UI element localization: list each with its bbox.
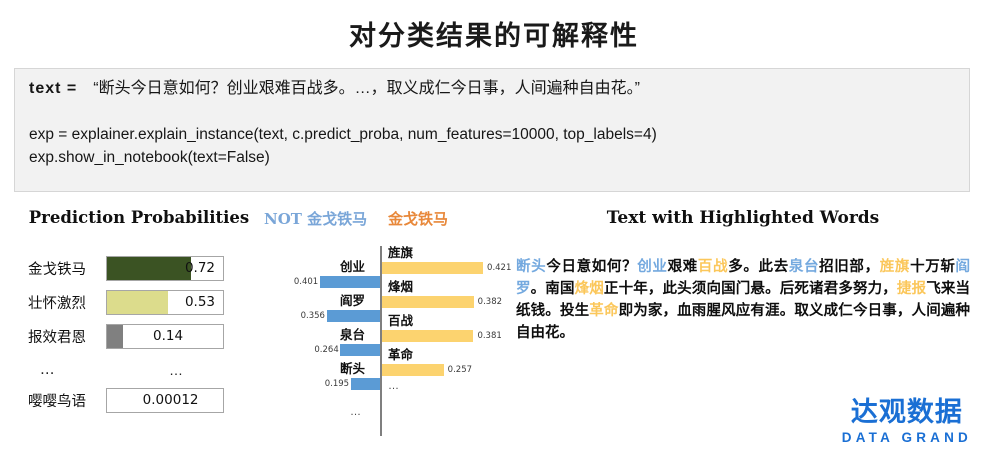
prediction-row: 金戈铁马0.72	[28, 255, 264, 281]
highlighted-word-negative: 创业	[637, 259, 667, 275]
prediction-bar-fill	[107, 257, 191, 280]
lime-word-label: 创业	[340, 260, 365, 274]
prediction-bar-fill	[107, 325, 123, 348]
prediction-rows: 金戈铁马0.72壮怀激烈0.53报效君恩0.14……嘤嘤鸟语0.00012	[14, 255, 264, 413]
lime-bar-value: 0.264	[314, 344, 338, 356]
prediction-ellipsis-value: …	[118, 362, 236, 378]
prediction-bar-value: 0.53	[185, 294, 215, 310]
lime-word-label: 阎罗	[340, 294, 365, 308]
prediction-row: 嘤嘤鸟语0.00012	[28, 387, 264, 413]
code-block: text =“断头今日意如何？创业艰难百战多。…，取义成仁今日事，人间遍种自由花…	[14, 68, 970, 192]
highlighted-word-positive: 百战	[698, 259, 728, 275]
prediction-bar: 0.53	[106, 290, 224, 315]
code-line-text-assignment: text =“断头今日意如何？创业艰难百战多。…，取义成仁今日事，人间遍种自由花…	[29, 81, 955, 97]
highlighted-word-negative: 泉台	[789, 259, 819, 275]
lime-word-label: 断头	[340, 362, 365, 376]
prediction-row: 报效君恩0.14	[28, 323, 264, 349]
prediction-probabilities-panel: Prediction Probabilities 金戈铁马0.72壮怀激烈0.5…	[14, 208, 264, 421]
prediction-row-label: 壮怀激烈	[28, 292, 106, 313]
code-variable-text: text =	[29, 80, 77, 97]
highlighted-word-negative: 断头	[516, 259, 546, 275]
panels-row: Prediction Probabilities 金戈铁马0.72壮怀激烈0.5…	[0, 208, 988, 459]
lime-class-headings: NOT 金戈铁马 金戈铁马	[258, 208, 508, 230]
plain-text-segment: 多。此去	[728, 259, 789, 275]
lime-heading-positive-class: 金戈铁马	[388, 208, 448, 229]
code-text-value: “断头今日意如何？创业艰难百战多。…，取义成仁今日事，人间遍种自由花。”	[93, 80, 640, 97]
prediction-bar-value: 0.00012	[143, 392, 199, 408]
highlighted-word-positive: 烽烟	[575, 281, 604, 297]
highlighted-word-positive: 旌旗	[880, 259, 910, 275]
prediction-bar: 0.14	[106, 324, 224, 349]
highlighted-text-heading: Text with Highlighted Words	[512, 208, 974, 228]
lime-bar-value: 0.401	[294, 276, 318, 288]
highlighted-word-positive: 革命	[589, 303, 618, 319]
lime-bar-negative	[327, 310, 380, 322]
lime-bar-row-negative: 断头0.195	[258, 362, 508, 396]
prediction-bar-value: 0.72	[185, 260, 215, 276]
plain-text-segment: 招旧部，	[819, 259, 880, 275]
brand-logo-en: DATA GRAND	[842, 430, 972, 445]
brand-logo-cn: 达观数据	[842, 399, 972, 427]
lime-ellipsis-negative: …	[350, 406, 362, 418]
lime-bar-row-negative: 创业0.401	[258, 260, 508, 294]
prediction-ellipsis-row: ……	[28, 357, 264, 383]
plain-text-segment: 。南国	[531, 281, 575, 297]
lime-word-label: 旌旗	[388, 246, 413, 260]
prediction-row: 壮怀激烈0.53	[28, 289, 264, 315]
highlighted-text-panel: Text with Highlighted Words 断头今日意如何？创业艰难…	[512, 208, 974, 344]
brand-logo: 达观数据 DATA GRAND	[842, 399, 972, 445]
plain-text-segment: 十万斩	[910, 259, 955, 275]
highlighted-word-positive: 捷报	[897, 281, 926, 297]
prediction-ellipsis-label: …	[28, 362, 118, 378]
code-line-explain-instance: exp = explainer.explain_instance(text, c…	[29, 127, 955, 143]
prediction-probabilities-heading: Prediction Probabilities	[14, 208, 264, 227]
lime-weights-panel: NOT 金戈铁马 金戈铁马 旌旗0.421烽烟0.382百战0.381革命0.2…	[258, 208, 508, 436]
prediction-row-label: 报效君恩	[28, 326, 106, 347]
lime-bar-negative	[320, 276, 380, 288]
lime-bar-row-negative: 阎罗0.356	[258, 294, 508, 328]
lime-bar-negative	[340, 344, 380, 356]
page-title: 对分类结果的可解释性	[0, 14, 988, 53]
plain-text-segment: 正十年，此头须向国门悬。后死诸君多努力，	[604, 281, 897, 297]
lime-plot: 旌旗0.421烽烟0.382百战0.381革命0.257创业0.401阎罗0.3…	[258, 246, 508, 436]
code-line-show-in-notebook: exp.show_in_notebook(text=False)	[29, 150, 955, 166]
prediction-bar: 0.00012	[106, 388, 224, 413]
plain-text-segment: 今日意如何？	[546, 259, 637, 275]
lime-bar-row-negative: 泉台0.264	[258, 328, 508, 362]
prediction-bar-fill	[107, 291, 168, 314]
prediction-row-label: 金戈铁马	[28, 258, 106, 279]
prediction-bar-value: 0.14	[153, 328, 183, 344]
lime-bar-value: 0.195	[325, 378, 349, 390]
lime-bar-negative	[351, 378, 380, 390]
lime-heading-negative-class: NOT 金戈铁马	[264, 208, 367, 229]
plain-text-segment: 艰难	[668, 259, 698, 275]
lime-ellipsis-positive: …	[388, 380, 400, 392]
lime-word-label: 泉台	[340, 328, 365, 342]
lime-bar-value: 0.356	[301, 310, 325, 322]
prediction-bar: 0.72	[106, 256, 224, 281]
prediction-row-label: 嘤嘤鸟语	[28, 390, 106, 411]
highlighted-text-body: 断头今日意如何？创业艰难百战多。此去泉台招旧部，旌旗十万斩阎罗。南国烽烟正十年，…	[512, 256, 974, 344]
